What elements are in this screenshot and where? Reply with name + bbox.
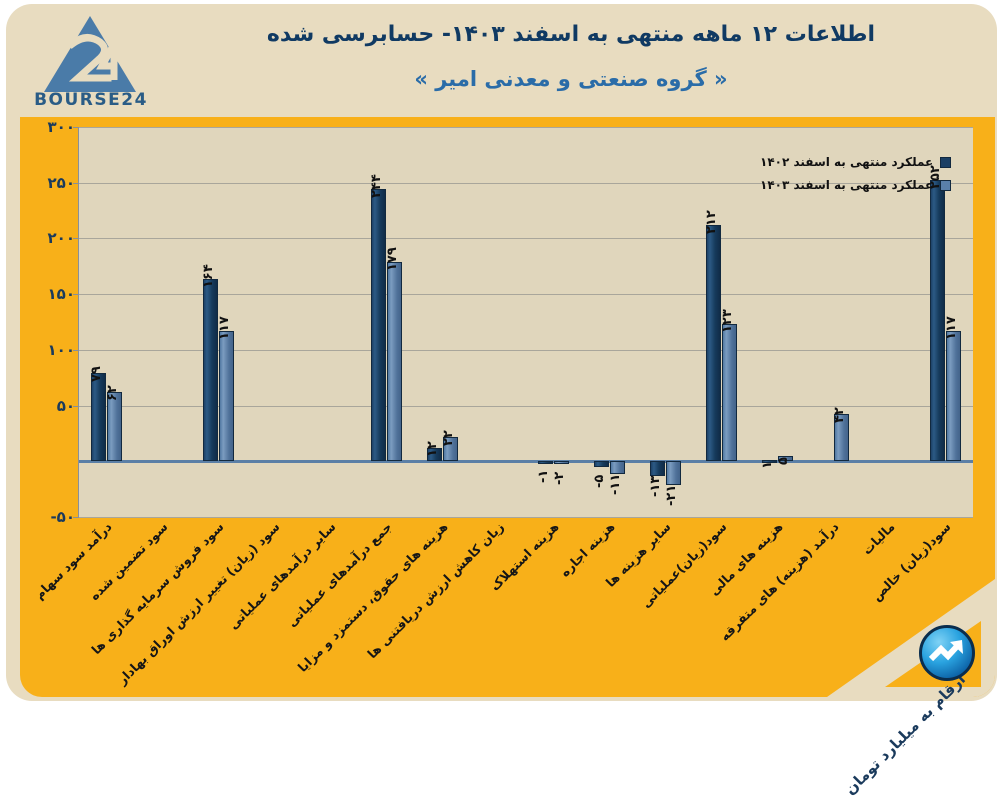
bar-series2[interactable]: [722, 324, 737, 461]
bar-group: [135, 127, 191, 517]
bar-value-label: ۵: [776, 457, 791, 465]
bar-value-label: ۱۲۳: [720, 309, 735, 333]
y-axis-tick-label: ۲۰۰: [40, 229, 75, 247]
bar-series1[interactable]: [930, 180, 945, 461]
bar-value-label: ۱: [760, 461, 775, 469]
chart-panel: -۵۰۵۰۱۰۰۱۵۰۲۰۰۲۵۰۳۰۰۷۹۶۲۱۶۴۱۱۷۲۴۴۱۷۹۱۲۲۲…: [20, 117, 995, 697]
chart-card: BOURSE24 اطلاعات ۱۲ ماهه منتهی به اسفند …: [6, 4, 997, 701]
title-block: اطلاعات ۱۲ ماهه منتهی به اسفند ۱۴۰۳- حسا…: [156, 18, 986, 91]
bar-group: ۱۲۲۲: [415, 127, 471, 517]
bar-value-label: ۱۶۴: [201, 264, 216, 288]
bar-value-label: ۱۱۷: [217, 316, 232, 340]
gridline: [79, 517, 973, 518]
bar-value-label: ۱۷۹: [385, 247, 400, 271]
legend-item[interactable]: عملکرد منتهی به اسفند ۱۴۰۳: [760, 178, 951, 192]
bar-value-label: ۴۲: [832, 408, 847, 424]
bar-value-label: ۲۱۲: [704, 210, 719, 234]
bar-group: ۲۱۲۱۲۳: [694, 127, 750, 517]
bar-value-label: ۶۲: [105, 385, 120, 401]
bar-series2[interactable]: [107, 392, 122, 461]
bar-value-label: ۲۴۴: [369, 175, 384, 199]
bar-series2[interactable]: [554, 461, 569, 464]
page-title: اطلاعات ۱۲ ماهه منتهی به اسفند ۱۴۰۳- حسا…: [156, 18, 986, 51]
bar-value-label: ۱۱۷: [944, 316, 959, 340]
bar-series1[interactable]: [371, 189, 386, 461]
y-axis-tick-label: ۵۰: [49, 397, 75, 415]
bar-series1[interactable]: [594, 461, 609, 467]
brand-logo: BOURSE24: [20, 10, 160, 114]
bar-group: -۱۳-۲۱: [638, 127, 694, 517]
bar-series1[interactable]: [91, 373, 106, 461]
legend-swatch-icon: [940, 157, 951, 168]
x-axis-label: مالیات: [859, 519, 898, 558]
bar-group: -۱-۲: [527, 127, 583, 517]
bar-series1[interactable]: [538, 461, 553, 464]
y-axis-tick-label: ۱۵۰: [40, 285, 75, 303]
chart-legend: عملکرد منتهی به اسفند ۱۴۰۲عملکرد منتهی ب…: [760, 155, 951, 201]
y-axis-tick-label: -۵۰: [42, 508, 75, 526]
bar-series1[interactable]: [706, 225, 721, 461]
bar-group: [471, 127, 527, 517]
bar-series2[interactable]: [946, 331, 961, 461]
legend-label: عملکرد منتهی به اسفند ۱۴۰۳: [760, 178, 933, 192]
bar-series2[interactable]: [610, 461, 625, 473]
page-subtitle: « گروه صنعتی و معدنی امیر »: [156, 67, 986, 91]
y-axis-tick-label: ۲۵۰: [40, 174, 75, 192]
x-axis-label: جمع درآمدهای عملیاتی: [284, 519, 395, 630]
bar-series1[interactable]: [650, 461, 665, 475]
brand-name: BOURSE24: [26, 90, 156, 110]
bar-series2[interactable]: [666, 461, 681, 484]
bar-series2[interactable]: [387, 262, 402, 461]
bar-group: ۲۴۴۱۷۹: [359, 127, 415, 517]
bar-value-label: -۱: [536, 470, 551, 483]
bar-value-label: -۱۳: [648, 476, 663, 497]
x-axis-label: هزینه اجاره: [557, 519, 618, 580]
bar-group: [303, 127, 359, 517]
legend-label: عملکرد منتهی به اسفند ۱۴۰۲: [760, 155, 933, 169]
y-axis-tick-label: ۳۰۰: [40, 118, 75, 136]
bar-series2[interactable]: [219, 331, 234, 461]
bar-series1[interactable]: [203, 279, 218, 462]
y-axis-tick-label: ۱۰۰: [40, 341, 75, 359]
bar-value-label: -۲: [552, 471, 567, 484]
bar-value-label: ۲۲: [441, 430, 456, 446]
x-axis-label: سایر درآمدهای عملیاتی: [225, 519, 338, 632]
bar-value-label: ۷۹: [89, 366, 104, 382]
bar-value-label: -۱۱: [608, 473, 623, 494]
bar-group: ۷۹۶۲: [79, 127, 135, 517]
bar-group: [247, 127, 303, 517]
bar-group: -۵-۱۱: [582, 127, 638, 517]
legend-item[interactable]: عملکرد منتهی به اسفند ۱۴۰۲: [760, 155, 951, 169]
bourse24-triangle-logo-icon: [42, 14, 138, 94]
legend-swatch-icon: [940, 180, 951, 191]
bar-value-label: -۲۱: [664, 484, 679, 505]
trend-arrow-badge-icon: [919, 625, 975, 681]
bar-group: ۱۶۴۱۱۷: [191, 127, 247, 517]
x-axis-label: درآمد (هزینه) های متفرقه: [717, 519, 842, 644]
bar-value-label: -۵: [592, 475, 607, 488]
bar-value-label: ۱۲: [425, 441, 440, 457]
